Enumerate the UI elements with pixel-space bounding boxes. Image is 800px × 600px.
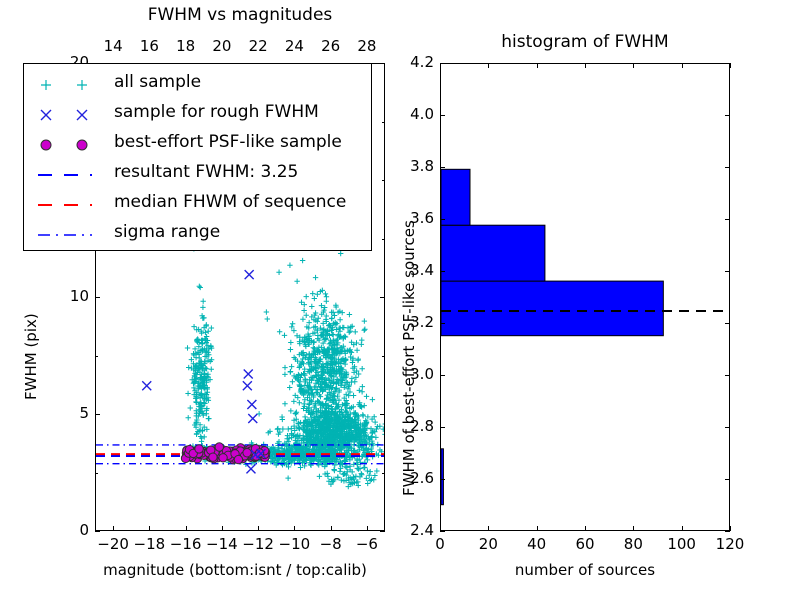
hist-xticklabel-5: 100 [667,535,696,553]
hist-xticklabel-6: 120 [716,535,745,553]
hist-ytick-7 [440,167,445,168]
scatter-title: FWHM vs magnitudes [95,5,385,25]
hist-ytick-5 [440,271,445,272]
scatter-ytick-right-2 [380,297,385,298]
scatter-ytick-0 [95,531,100,532]
scatter-yticklabel-0: 0 [49,521,89,539]
histogram-axes [440,63,730,531]
hist-ytick-6 [440,219,445,220]
hist-ytick-right-3 [725,375,730,376]
scatter-ytick-minor-r-4 [382,122,385,123]
legend-box: all samplesample for rough FWHMbest-effo… [23,63,372,251]
hist-xticklabel-1: 20 [479,535,498,553]
figure-canvas: −20−18−16−14−12−10−8−6141618202224262805… [0,0,800,600]
scatter-xticklabel-6: −8 [320,535,342,553]
legend-item-3[interactable]: resultant FWHM: 3.25 [24,160,371,190]
hist-xtick-top-1 [488,63,489,68]
scatter-top-xticklabel-2: 18 [176,37,195,55]
hist-yticklabel-0: 2.4 [394,521,434,539]
hist-xtick-top-4 [633,63,634,68]
hist-ytick-2 [440,427,445,428]
legend-item-1[interactable]: sample for rough FWHM [24,100,371,130]
scatter-yticklabel-2: 10 [49,287,89,305]
scatter-xtick-5 [294,526,295,531]
hist-ytick-right-0 [725,531,730,532]
scatter-xtick-2 [186,526,187,531]
scatter-ytick-right-1 [380,414,385,415]
scatter-xticklabel-1: −18 [134,535,166,553]
scatter-xtick-1 [149,526,150,531]
scatter-ytick-minor-r-0 [382,473,385,474]
hist-xtick-2 [537,526,538,531]
scatter-ytick-2 [95,297,100,298]
hist-ytick-3 [440,375,445,376]
histogram-plot-area [441,64,729,530]
histogram-title: histogram of FWHM [440,32,730,52]
scatter-ytick-1 [95,414,100,415]
histogram-bar [441,449,443,505]
legend-label: best-effort PSF-like sample [114,132,342,152]
hist-xticklabel-2: 40 [527,535,546,553]
scatter-ytick-minor-r-3 [382,180,385,181]
legend-marker-dashdot-line-icon [30,220,108,250]
scatter-ytick-right-0 [380,531,385,532]
scatter-ytick-minor-0 [95,473,98,474]
hist-xtick-4 [633,526,634,531]
scatter-top-xticklabel-0: 14 [104,37,123,55]
scatter-xticklabel-3: −14 [206,535,238,553]
scatter-xticklabel-4: −12 [242,535,274,553]
legend-marker-dashed-line-icon [30,190,108,220]
hist-ytick-4 [440,323,445,324]
scatter-xticklabel-0: −20 [97,535,129,553]
histogram-ylabel: FWHM of best-effort PSF-like sources [400,220,418,496]
histogram-bar [441,169,470,225]
scatter-top-xticklabel-3: 20 [212,37,231,55]
scatter-yticklabel-1: 5 [49,404,89,422]
scatter-ytick-right-3 [380,63,385,64]
scatter-top-xticklabel-1: 16 [140,37,159,55]
scatter-xtick-6 [331,526,332,531]
hist-ytick-8 [440,115,445,116]
legend-label: resultant FWHM: 3.25 [114,162,298,182]
legend-marker-plus-icon [30,70,108,100]
hist-yticklabel-9: 4.2 [394,53,434,71]
scatter-top-xticklabel-6: 26 [321,37,340,55]
hist-ytick-9 [440,63,445,64]
scatter-xticklabel-2: −16 [170,535,202,553]
hist-ytick-right-1 [725,479,730,480]
legend-label: sigma range [114,222,220,242]
hist-ytick-right-5 [725,271,730,272]
hist-ytick-right-8 [725,115,730,116]
legend-label: sample for rough FWHM [114,102,319,122]
scatter-xtick-7 [367,526,368,531]
hist-xtick-top-3 [585,63,586,68]
scatter-ylabel: FWHM (pix) [22,313,40,400]
scatter-xtick-3 [222,526,223,531]
scatter-top-xticklabel-4: 22 [249,37,268,55]
hist-ytick-right-2 [725,427,730,428]
hist-ytick-right-9 [725,63,730,64]
hist-xticklabel-4: 80 [624,535,643,553]
hist-ytick-0 [440,531,445,532]
legend-item-0[interactable]: all sample [24,70,371,100]
scatter-xtick-4 [258,526,259,531]
hist-xtick-top-5 [682,63,683,68]
hist-ytick-right-4 [725,323,730,324]
hist-ytick-1 [440,479,445,480]
legend-item-2[interactable]: best-effort PSF-like sample [24,130,371,160]
histogram-xlabel: number of sources [440,561,730,579]
legend-marker-circle-icon [30,130,108,160]
hist-xticklabel-0: 0 [435,535,445,553]
hist-xtick-top-6 [730,63,731,68]
hist-ytick-right-7 [725,167,730,168]
hist-xtick-1 [488,526,489,531]
legend-label: all sample [114,72,201,92]
hist-ytick-right-6 [725,219,730,220]
histogram-bar [441,281,663,336]
legend-label: median FHWM of sequence [114,192,346,212]
hist-yticklabel-7: 3.8 [394,157,434,175]
scatter-top-xticklabel-7: 28 [357,37,376,55]
scatter-xlabel: magnitude (bottom:isnt / top:calib) [90,561,380,579]
scatter-ytick-minor-1 [95,356,98,357]
legend-item-4[interactable]: median FHWM of sequence [24,190,371,220]
scatter-ytick-minor-r-2 [382,239,385,240]
hist-yticklabel-8: 4.0 [394,105,434,123]
hist-xtick-5 [682,526,683,531]
scatter-ytick-minor-r-1 [382,356,385,357]
scatter-xtick-0 [113,526,114,531]
histogram-bar [441,225,545,281]
hist-xtick-6 [730,526,731,531]
legend-item-5[interactable]: sigma range [24,220,371,250]
scatter-top-xticklabel-5: 24 [285,37,304,55]
scatter-xticklabel-5: −10 [279,535,311,553]
hist-xtick-top-2 [537,63,538,68]
hist-xticklabel-3: 60 [575,535,594,553]
hist-xtick-3 [585,526,586,531]
legend-marker-dashed-line-icon [30,160,108,190]
legend-marker-cross-icon [30,100,108,130]
scatter-xticklabel-7: −6 [356,535,378,553]
